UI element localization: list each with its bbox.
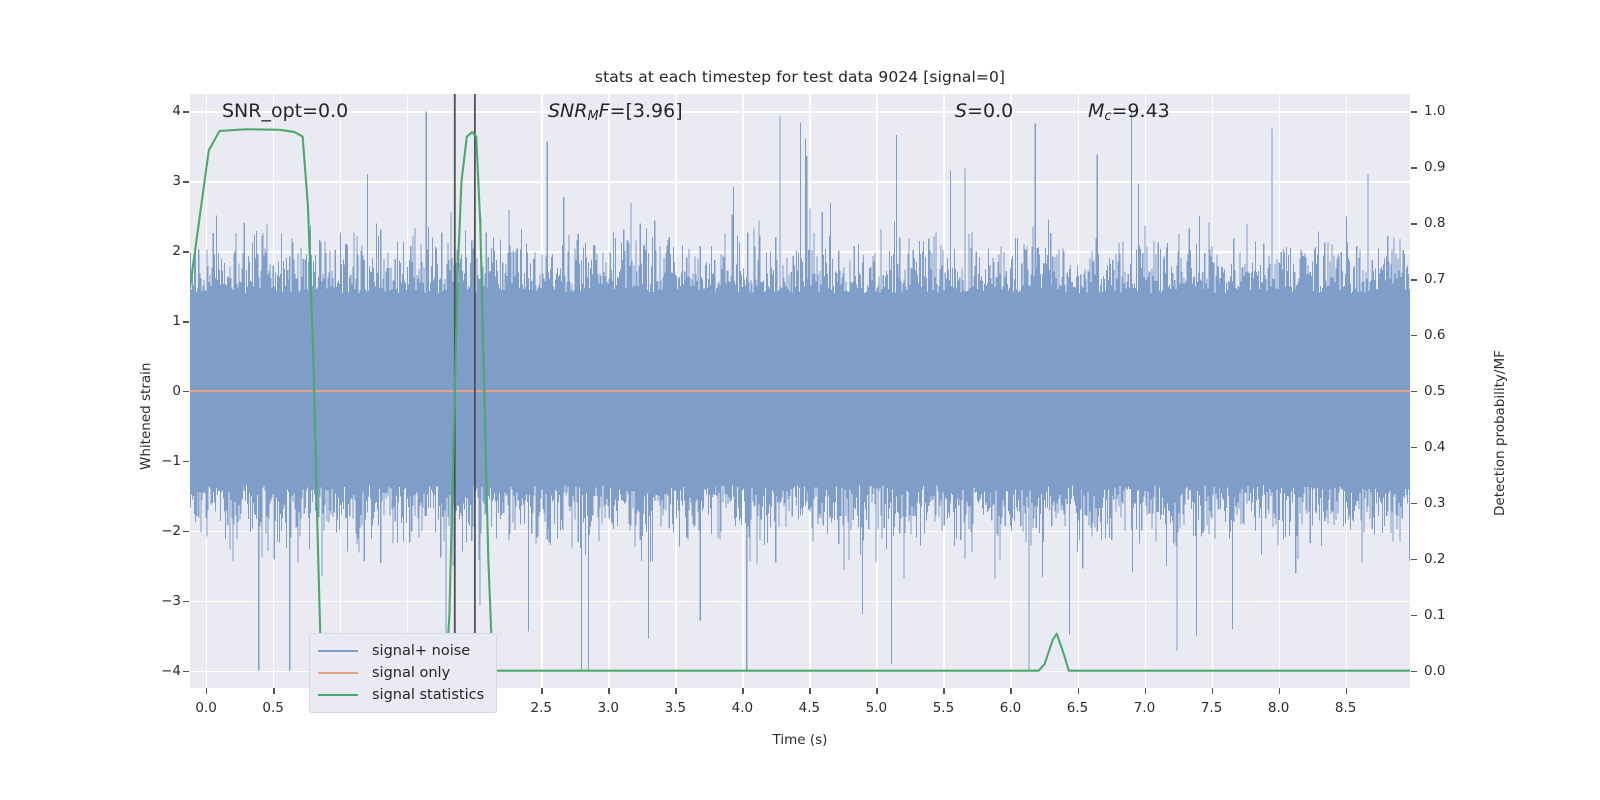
x-tick <box>675 688 676 694</box>
x-tick <box>1346 688 1347 694</box>
legend-swatch-signal-noise <box>318 650 358 652</box>
x-tick-label: 7.5 <box>1201 700 1222 716</box>
legend-label-signal-only: signal only <box>372 665 450 681</box>
x-tick-label: 3.0 <box>598 700 619 716</box>
x-tick-label: 3.5 <box>665 700 686 716</box>
y-tick-label-right: 1.0 <box>1424 103 1445 119</box>
x-tick-label: 8.5 <box>1335 700 1356 716</box>
x-tick-label: 6.5 <box>1067 700 1088 716</box>
y-tick-right <box>1411 503 1417 504</box>
y-axis-label-right: Detection probability/MF <box>1492 350 1508 516</box>
x-tick-label: 4.5 <box>799 700 820 716</box>
legend-item-signal-statistics: signal statistics <box>318 684 484 706</box>
y-tick-right <box>1411 615 1417 616</box>
annotation-s-value: S=0.0 <box>955 100 1013 122</box>
legend-swatch-signal-statistics <box>318 694 358 696</box>
legend-item-signal-only: signal only <box>318 662 484 684</box>
y-tick-left <box>183 461 189 462</box>
y-tick-label-left: 4 <box>172 103 181 119</box>
y-tick-label-left: −1 <box>161 453 181 469</box>
x-tick <box>1010 688 1011 694</box>
y-tick-left <box>183 181 189 182</box>
y-tick-right <box>1411 391 1417 392</box>
y-tick-left <box>183 251 189 252</box>
y-tick-left <box>183 671 189 672</box>
y-tick-label-left: −4 <box>161 663 181 679</box>
annotation-snr-mf: SNRMF=[3.96] <box>548 100 683 124</box>
plot-area <box>190 94 1410 688</box>
legend: signal+ noise signal only signal statist… <box>309 633 497 713</box>
x-tick-label: 6.0 <box>1000 700 1021 716</box>
y-tick-label-right: 0.7 <box>1424 271 1445 287</box>
y-tick-right <box>1411 167 1417 168</box>
x-tick <box>876 688 877 694</box>
y-axis-label-left: Whitened strain <box>138 363 154 470</box>
figure-canvas: stats at each timestep for test data 902… <box>0 0 1600 800</box>
x-tick <box>1279 688 1280 694</box>
x-tick <box>206 688 207 694</box>
legend-label-signal-noise: signal+ noise <box>372 643 470 659</box>
y-tick-label-right: 0.4 <box>1424 439 1445 455</box>
x-tick <box>1078 688 1079 694</box>
y-tick-right <box>1411 447 1417 448</box>
y-tick-left <box>183 531 189 532</box>
annotation-snr-opt: SNR_opt=0.0 <box>222 100 348 122</box>
x-tick-label: 4.0 <box>732 700 753 716</box>
x-tick-label: 0.5 <box>262 700 283 716</box>
x-tick <box>1212 688 1213 694</box>
annotation-mc-value: Mc=9.43 <box>1088 100 1170 124</box>
x-tick <box>541 688 542 694</box>
y-tick-label-right: 0.0 <box>1424 663 1445 679</box>
y-tick-label-right: 0.1 <box>1424 607 1445 623</box>
legend-swatch-signal-only <box>318 672 358 674</box>
y-tick-left <box>183 111 189 112</box>
x-tick <box>608 688 609 694</box>
y-tick-right <box>1411 559 1417 560</box>
y-tick-label-right: 0.6 <box>1424 327 1445 343</box>
x-tick <box>742 688 743 694</box>
y-tick-left <box>183 601 189 602</box>
y-tick-left <box>183 391 189 392</box>
y-tick-left <box>183 321 189 322</box>
y-tick-label-left: −2 <box>161 523 181 539</box>
x-axis-label: Time (s) <box>0 732 1600 748</box>
noise-core-band <box>190 293 1410 485</box>
y-tick-label-left: 3 <box>172 173 181 189</box>
y-tick-label-left: 2 <box>172 243 181 259</box>
y-tick-right <box>1411 223 1417 224</box>
y-tick-label-right: 0.9 <box>1424 159 1445 175</box>
y-tick-label-right: 0.3 <box>1424 495 1445 511</box>
x-tick-label: 5.0 <box>866 700 887 716</box>
y-tick-right <box>1411 111 1417 112</box>
y-tick-right <box>1411 279 1417 280</box>
y-tick-label-left: −3 <box>161 593 181 609</box>
x-tick <box>1145 688 1146 694</box>
chart-title: stats at each timestep for test data 902… <box>0 68 1600 86</box>
y-tick-label-right: 0.8 <box>1424 215 1445 231</box>
y-tick-right <box>1411 671 1417 672</box>
x-tick-label: 8.0 <box>1268 700 1289 716</box>
y-tick-label-left: 0 <box>172 383 181 399</box>
y-tick-right <box>1411 335 1417 336</box>
data-traces <box>190 94 1410 688</box>
x-tick-label: 7.0 <box>1134 700 1155 716</box>
legend-label-signal-statistics: signal statistics <box>372 687 484 703</box>
x-tick-label: 2.5 <box>531 700 552 716</box>
x-tick-label: 0.0 <box>195 700 216 716</box>
y-tick-label-right: 0.5 <box>1424 383 1445 399</box>
y-tick-label-left: 1 <box>172 313 181 329</box>
y-tick-label-right: 0.2 <box>1424 551 1445 567</box>
x-tick-label: 5.5 <box>933 700 954 716</box>
x-tick <box>273 688 274 694</box>
x-tick <box>809 688 810 694</box>
legend-item-signal-noise: signal+ noise <box>318 640 484 662</box>
x-tick <box>943 688 944 694</box>
